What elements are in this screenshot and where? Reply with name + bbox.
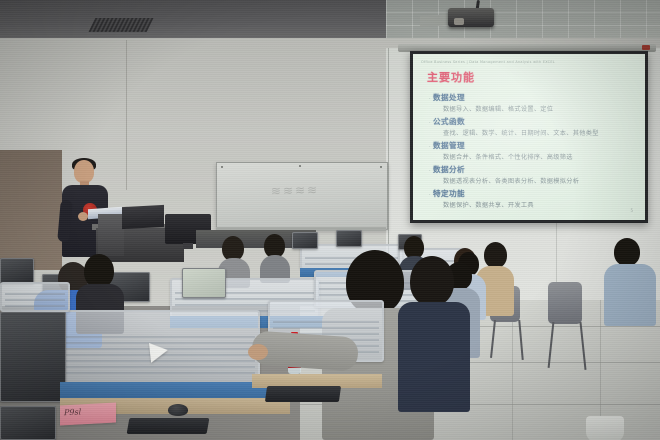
projector-icon — [448, 8, 494, 27]
student-monitor — [0, 406, 56, 440]
whiteboard-writing: ≋≋≋≋ — [271, 182, 362, 206]
bullet-heading: 数据分析 — [433, 164, 465, 175]
student-monitor — [292, 232, 318, 249]
slide-header: Office Business Series | Data Management… — [421, 60, 639, 64]
computer-tower — [98, 214, 124, 256]
bullet-subline: 数据合并、条件格式、个性化排序、高级筛选 — [443, 152, 639, 161]
left-wall-panel — [0, 150, 62, 270]
student-monitor — [182, 268, 226, 298]
slide-content: Office Business Series | Data Management… — [421, 60, 639, 214]
bullet-heading: 特定功能 — [433, 188, 465, 199]
bullet-heading: 数据管理 — [433, 140, 465, 151]
screen-surface: Office Business Series | Data Management… — [413, 54, 645, 220]
slide-bullet: · 公式函数 — [429, 116, 639, 127]
slide-bullet: · 特定功能 — [429, 188, 639, 199]
desk-label-text: P9sl — [64, 407, 81, 417]
screen-frame: Office Business Series | Data Management… — [410, 51, 648, 223]
classroom-photo: ≋≋≋≋ Office Business Series | Data Manag… — [0, 0, 660, 440]
laptop — [122, 205, 164, 229]
projection-screen: Office Business Series | Data Management… — [398, 44, 656, 230]
slide-bullet: · 数据处理 — [429, 92, 639, 103]
bullet-heading: 公式函数 — [433, 116, 465, 127]
presenter-head — [74, 160, 94, 183]
slide-bullet: · 数据管理 — [429, 140, 639, 151]
keyboard[interactable] — [265, 386, 341, 402]
projector-lens-icon — [454, 18, 464, 25]
roller-cap-icon — [642, 45, 650, 50]
student-monitor — [0, 258, 34, 284]
slide-bullet: · 数据分析 — [429, 164, 639, 175]
slide-title: 主要功能 — [427, 69, 639, 85]
keyboard[interactable] — [127, 418, 210, 434]
ceiling-vent-icon — [89, 18, 154, 32]
bullet-subline: 数据保护、数据共享、开发工具 — [443, 200, 639, 209]
bullet-subline: 数据导入、数据编辑、格式设置、定位 — [443, 104, 639, 113]
paper-cone — [149, 341, 169, 363]
student-hand — [248, 344, 268, 360]
student-monitor — [0, 312, 66, 402]
wall-seam — [126, 40, 127, 190]
presenter-hand — [78, 212, 88, 221]
student-monitor — [336, 230, 362, 247]
bullet-heading: 数据处理 — [433, 92, 465, 103]
desk-partition — [0, 282, 70, 312]
mouse[interactable] — [168, 404, 188, 416]
slide-page-number: 5 — [630, 208, 633, 213]
bullet-subline: 数据透视表分析、各类图表分析、数据模拟分析 — [443, 176, 639, 185]
bullet-subline: 查找、逻辑、数学、统计、日期时间、文本、其他类型 — [443, 128, 639, 137]
whiteboard: ≋≋≋≋ — [216, 162, 388, 230]
monitor-stand — [183, 243, 193, 249]
waste-bin — [586, 416, 624, 440]
desk-label-note: P9sl — [60, 403, 116, 426]
